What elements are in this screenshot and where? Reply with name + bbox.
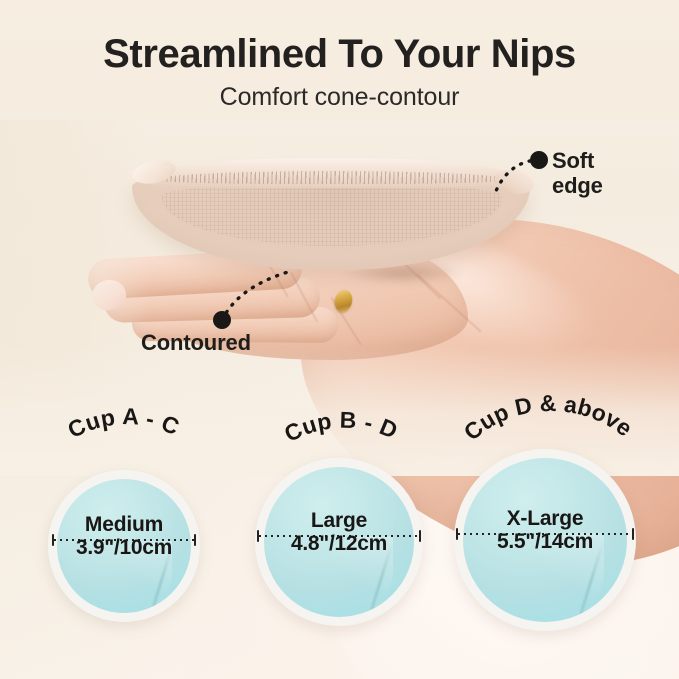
size-name-medium: Medium <box>34 514 214 536</box>
size-dimension-large: 4.8"/12cm <box>249 532 429 556</box>
size-dimension-xlarge: 5.5"/14cm <box>455 530 635 554</box>
size-name-xlarge: X-Large <box>455 508 635 530</box>
svg-text:Cup B - D: Cup B - D <box>280 407 402 447</box>
size-swatch-row: Cup A - C Medium 3.9"/10cm <box>0 0 679 679</box>
cup-label-medium: Cup A - C <box>63 403 183 443</box>
cup-label-xlarge: Cup D & above <box>459 390 638 446</box>
callout-contoured-line1: Contoured <box>141 330 321 355</box>
svg-text:Cup A - C: Cup A - C <box>63 403 183 443</box>
swatch-text-large: Large 4.8"/12cm <box>249 510 429 556</box>
callout-label-soft-edge: Soft edge <box>552 148 662 198</box>
callout-label-contoured: Contoured <box>141 330 321 355</box>
cup-label-large: Cup B - D <box>280 407 402 447</box>
product-infographic: Streamlined To Your Nips Comfort cone-co… <box>0 0 679 679</box>
swatch-text-medium: Medium 3.9"/10cm <box>34 514 214 560</box>
callout-soft-edge-line1: Soft <box>552 148 662 173</box>
size-dimension-medium: 3.9"/10cm <box>34 536 214 560</box>
size-name-large: Large <box>249 510 429 532</box>
swatch-text-xlarge: X-Large 5.5"/14cm <box>455 508 635 554</box>
callout-soft-edge-line2: edge <box>552 173 662 198</box>
svg-text:Cup D & above: Cup D & above <box>459 390 638 446</box>
